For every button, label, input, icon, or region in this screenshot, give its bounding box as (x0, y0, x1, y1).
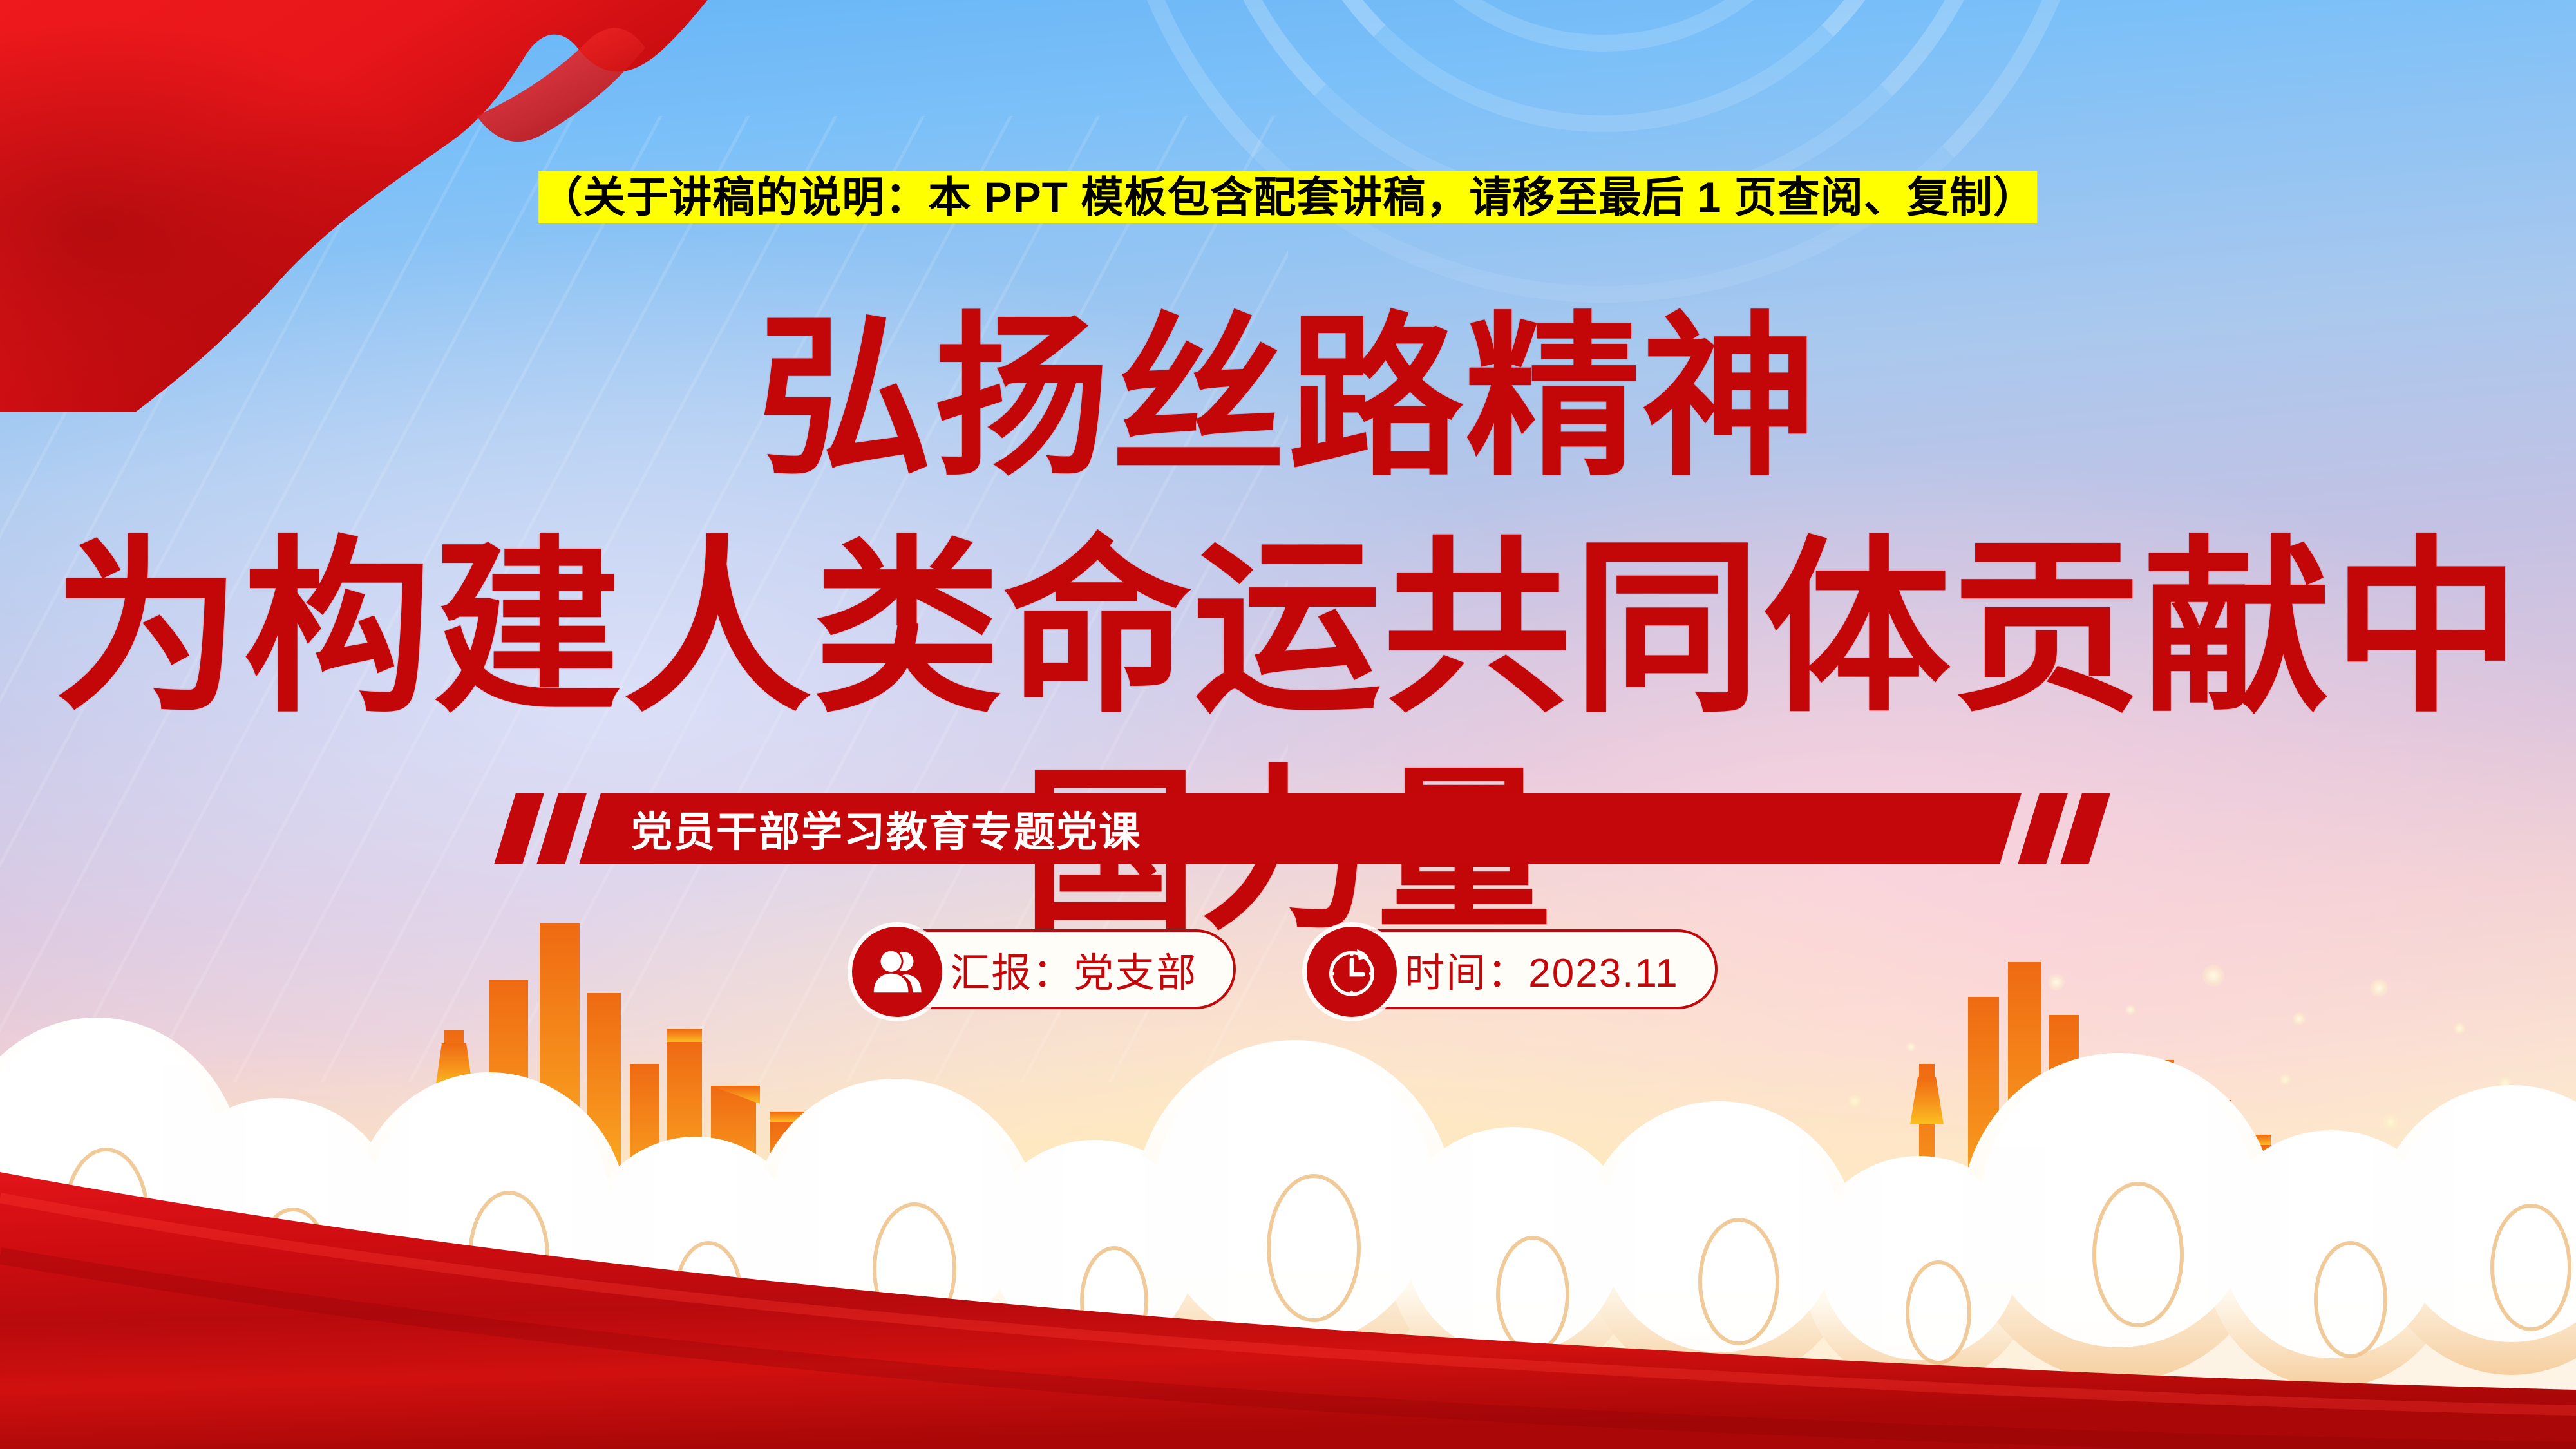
arc-ring (1359, 0, 1848, 52)
clock-icon (1307, 927, 1397, 1017)
arc-ring (1108, 0, 2099, 303)
date-label: 时间：2023.11 (1405, 940, 1679, 998)
arc-ring (1278, 0, 1929, 132)
notice-text: （关于讲稿的说明：本 PPT 模板包含配套讲稿，请移至最后 1 页查阅、复制） (538, 171, 2037, 223)
ribbon-slash-right-2 (2060, 793, 2110, 864)
ribbon-slash-left-2 (536, 793, 587, 864)
meta-badges: 汇报：党支部 时间：2023.11 (0, 929, 2576, 1009)
auspicious-clouds (0, 1018, 2576, 1388)
people-icon (852, 927, 942, 1017)
notice-banner: （关于讲稿的说明：本 PPT 模板包含配套讲稿，请移至最后 1 页查阅、复制） (538, 173, 2037, 223)
subtitle-text: 党员干部学习教育专题党课 (631, 799, 1141, 858)
subtitle-ribbon: 党员干部学习教育专题党课 (505, 793, 2115, 864)
ribbon-slash-right-1 (2018, 793, 2068, 864)
page-title-line1: 弘扬丝路精神 (0, 314, 2576, 482)
date-badge[interactable]: 时间：2023.11 (1313, 929, 1718, 1009)
page-title-line2: 为构建人类命运共同体贡献中 (0, 538, 2576, 719)
presenter-badge[interactable]: 汇报：党支部 (858, 929, 1236, 1009)
slide-canvas: （关于讲稿的说明：本 PPT 模板包含配套讲稿，请移至最后 1 页查阅、复制） … (0, 0, 2576, 1449)
presenter-label: 汇报：党支部 (950, 940, 1197, 998)
red-silk-band (0, 1172, 2576, 1449)
